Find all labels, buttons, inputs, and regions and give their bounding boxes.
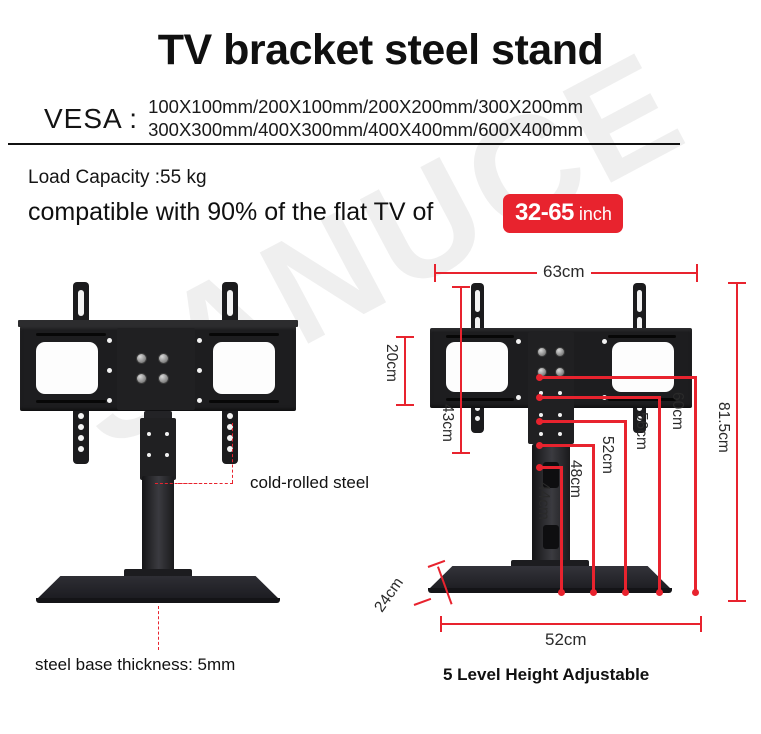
rail-hole bbox=[78, 446, 84, 452]
dim-52base-label: 52cm bbox=[545, 630, 587, 650]
dim-815-tick-bottom bbox=[728, 600, 746, 602]
badge-range-label: 32-65 bbox=[515, 199, 574, 227]
column-hole bbox=[147, 453, 151, 457]
bracket-window-left bbox=[36, 342, 98, 394]
mount-bolt bbox=[136, 353, 147, 364]
level-56-vertical bbox=[658, 396, 661, 592]
dim-52base-line bbox=[440, 623, 702, 625]
bracket-slot bbox=[36, 400, 106, 403]
diagram-center-plate bbox=[528, 332, 574, 444]
column-hole bbox=[165, 453, 169, 457]
level-dot-44 bbox=[536, 464, 543, 471]
callout-leader-base bbox=[158, 606, 159, 650]
callout-base-label: steel base thickness: 5mm bbox=[35, 655, 235, 675]
dim-43-label: 43cm bbox=[438, 404, 456, 442]
level-56-end-dot bbox=[656, 589, 663, 596]
page-title: TV bracket steel stand bbox=[0, 26, 761, 75]
infographic-page: SANUCE TV bracket steel stand VESA : 100… bbox=[0, 0, 761, 734]
diagram-rail-slot bbox=[637, 290, 642, 312]
diagram-adjust-hole bbox=[539, 432, 543, 436]
level-44-end-dot bbox=[558, 589, 565, 596]
rail-slot bbox=[78, 290, 84, 316]
diagram-rail-slot bbox=[475, 290, 480, 312]
diagram-adjust-hole bbox=[558, 432, 562, 436]
dim-20-tick-bottom bbox=[396, 404, 414, 406]
level-52-horizontal bbox=[539, 420, 627, 423]
diagram-adjust-hole bbox=[558, 413, 562, 417]
diagram-rail-hole bbox=[475, 416, 480, 421]
level-44-vertical bbox=[560, 466, 563, 592]
bracket-window-right bbox=[213, 342, 275, 394]
header-divider bbox=[8, 143, 680, 145]
diagram-window-right bbox=[612, 342, 674, 392]
diagram-base-front-edge bbox=[428, 588, 672, 593]
level-60-horizontal bbox=[539, 376, 697, 379]
dim-20-line bbox=[404, 336, 406, 406]
dim-52base-tick-right bbox=[700, 616, 702, 632]
level-60-vertical bbox=[694, 376, 697, 592]
dim-20-tick-top bbox=[396, 336, 414, 338]
level-48-end-dot bbox=[590, 589, 597, 596]
level-52-end-dot bbox=[622, 589, 629, 596]
rail-hole bbox=[227, 413, 233, 419]
dim-52base-tick-left bbox=[440, 616, 442, 632]
base-plate bbox=[36, 576, 280, 600]
dim-20-label: 20cm bbox=[382, 344, 400, 382]
compatibility-text: compatible with 90% of the flat TV of bbox=[28, 198, 433, 227]
base-front-edge bbox=[36, 598, 280, 603]
callout-leader-rail-vertical bbox=[232, 423, 233, 483]
diagram-adjust-hole bbox=[558, 391, 562, 395]
bracket-hole bbox=[107, 338, 112, 343]
bracket-slot bbox=[209, 333, 279, 336]
dim-43-tick-top bbox=[452, 286, 470, 288]
diagram-mount-bolt bbox=[537, 347, 547, 357]
level-60-label: 60cm bbox=[668, 392, 686, 430]
rail-hole bbox=[78, 413, 84, 419]
diagram-slot bbox=[608, 335, 676, 338]
vesa-spec-row: VESA : 100X100mm/200X100mm/200X200mm/300… bbox=[44, 96, 704, 142]
column-upper-bracket bbox=[140, 418, 176, 480]
mount-bolt bbox=[136, 373, 147, 384]
dim-815-line bbox=[736, 282, 738, 602]
bracket-hole bbox=[197, 338, 202, 343]
callout-leader-material bbox=[155, 483, 217, 484]
diagram-slot bbox=[446, 398, 514, 401]
level-44-label: 44cm bbox=[534, 482, 552, 520]
level-dot-60 bbox=[536, 374, 543, 381]
level-52-vertical bbox=[624, 420, 627, 592]
diagram-mount-bolt bbox=[555, 347, 565, 357]
level-48-vertical bbox=[592, 444, 595, 592]
level-48-horizontal bbox=[539, 444, 595, 447]
size-range-badge: 32-65 inch bbox=[503, 194, 623, 233]
column-hole bbox=[147, 432, 151, 436]
bracket-slot bbox=[209, 400, 279, 403]
dim-63-tick-right bbox=[696, 264, 698, 282]
diagram-bracket-hole bbox=[516, 395, 521, 400]
badge-unit-label: inch bbox=[579, 204, 612, 225]
rail-hole bbox=[78, 435, 84, 441]
level-dot-56 bbox=[536, 394, 543, 401]
bracket-hole bbox=[197, 398, 202, 403]
level-60-end-dot bbox=[692, 589, 699, 596]
level-dot-48 bbox=[536, 442, 543, 449]
diagram-adjust-hole bbox=[539, 413, 543, 417]
bracket-hole bbox=[107, 368, 112, 373]
diagram-slot bbox=[446, 335, 514, 338]
rail-slot bbox=[227, 290, 233, 316]
mount-bolt bbox=[158, 373, 169, 384]
vesa-line-2: 300X300mm/400X300mm/400X400mm/600X400mm bbox=[148, 119, 583, 142]
diagram-window-left bbox=[446, 342, 508, 392]
level-52-label: 52cm bbox=[598, 436, 616, 474]
level-dot-52 bbox=[536, 418, 543, 425]
diagram-bracket-hole bbox=[516, 339, 521, 344]
vesa-line-1: 100X100mm/200X100mm/200X200mm/300X200mm bbox=[148, 96, 583, 119]
level-48-label: 48cm bbox=[566, 460, 584, 498]
left-product-figure bbox=[0, 280, 380, 660]
diagram-bracket-hole bbox=[602, 339, 607, 344]
dim-63-label: 63cm bbox=[537, 262, 591, 282]
callout-material-label: cold-rolled steel bbox=[250, 473, 369, 493]
right-figure-caption: 5 Level Height Adjustable bbox=[443, 665, 649, 685]
mount-bolt bbox=[158, 353, 169, 364]
dim-815-tick-top bbox=[728, 282, 746, 284]
dim-63-tick-left bbox=[434, 264, 436, 282]
level-56-horizontal bbox=[539, 396, 661, 399]
bracket-hole bbox=[197, 368, 202, 373]
support-column bbox=[142, 476, 174, 582]
dim-43-line bbox=[460, 286, 462, 454]
center-mount-plate bbox=[117, 328, 195, 410]
dim-815-label: 81.5cm bbox=[714, 402, 732, 453]
bracket-slot bbox=[36, 333, 106, 336]
column-hole bbox=[165, 432, 169, 436]
level-56-label: 56cm bbox=[632, 412, 650, 450]
vesa-values: 100X100mm/200X100mm/200X200mm/300X200mm … bbox=[148, 96, 583, 142]
rail-hole bbox=[78, 424, 84, 430]
diagram-column-window bbox=[543, 525, 559, 549]
bracket-hole bbox=[107, 398, 112, 403]
dim-43-tick-bottom bbox=[452, 452, 470, 454]
load-capacity-text: Load Capacity :55 kg bbox=[28, 167, 207, 189]
vesa-label: VESA : bbox=[44, 103, 148, 135]
diagram-base-plate bbox=[428, 566, 672, 590]
